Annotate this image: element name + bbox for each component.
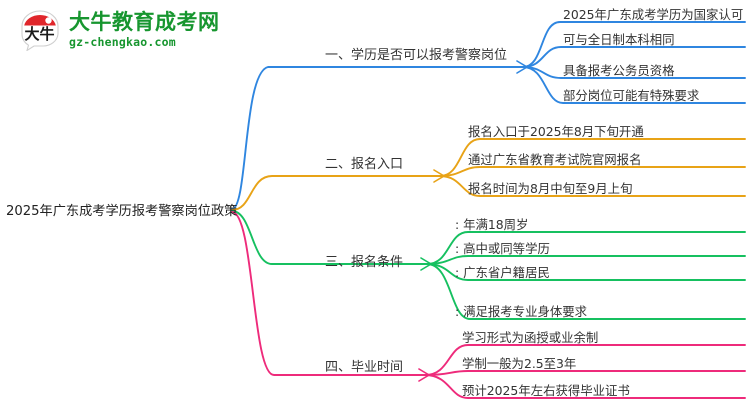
branch-label-4[interactable]: 四、毕业时间	[325, 356, 403, 375]
leaf-node-1-3[interactable]: 具备报考公务员资格	[563, 61, 675, 79]
logo-site-url: gz-chengkao.com	[69, 37, 220, 49]
leaf-node-2-3[interactable]: 报名时间为8月中旬至9月上旬	[468, 179, 632, 197]
leaf-node-4-2[interactable]: 学制一般为2.5至3年	[462, 354, 576, 372]
logo-site-name: 大牛教育成考网	[69, 12, 220, 33]
leaf-node-1-1[interactable]: 2025年广东成考学历为国家认可	[563, 5, 743, 23]
leaf-node-1-2[interactable]: 可与全日制本科相同	[563, 30, 675, 48]
branch-label-3[interactable]: 三、报名条件	[325, 251, 403, 270]
leaf-node-3-2[interactable]: : 高中或同等学历	[455, 239, 550, 257]
leaf-node-2-1[interactable]: 报名入口于2025年8月下旬开通	[468, 122, 644, 140]
svg-text:大牛: 大牛	[24, 25, 54, 43]
root-node[interactable]: 2025年广东成考学历报考警察岗位政策	[6, 200, 237, 219]
mindmap-canvas: 大牛 大牛教育成考网 gz-chengkao.com	[0, 0, 750, 410]
leaf-node-3-3[interactable]: : 广东省户籍居民	[455, 263, 550, 281]
leaf-node-4-3[interactable]: 预计2025年左右获得毕业证书	[462, 381, 630, 399]
branch-label-2[interactable]: 二、报名入口	[325, 153, 403, 172]
logo-mark-icon: 大牛	[18, 9, 62, 51]
site-logo: 大牛 大牛教育成考网 gz-chengkao.com	[18, 9, 220, 51]
leaf-node-3-1[interactable]: : 年满18周岁	[455, 215, 528, 233]
leaf-node-4-1[interactable]: 学习形式为函授或业余制	[462, 328, 598, 346]
branch-label-1[interactable]: 一、学历是否可以报考警察岗位	[325, 44, 507, 63]
logo-wordmark: 大牛教育成考网 gz-chengkao.com	[69, 12, 220, 49]
leaf-node-3-4[interactable]: : 满足报考专业身体要求	[455, 302, 587, 320]
leaf-node-1-4[interactable]: 部分岗位可能有特殊要求	[563, 86, 699, 104]
leaf-node-2-2[interactable]: 通过广东省教育考试院官网报名	[468, 150, 641, 168]
